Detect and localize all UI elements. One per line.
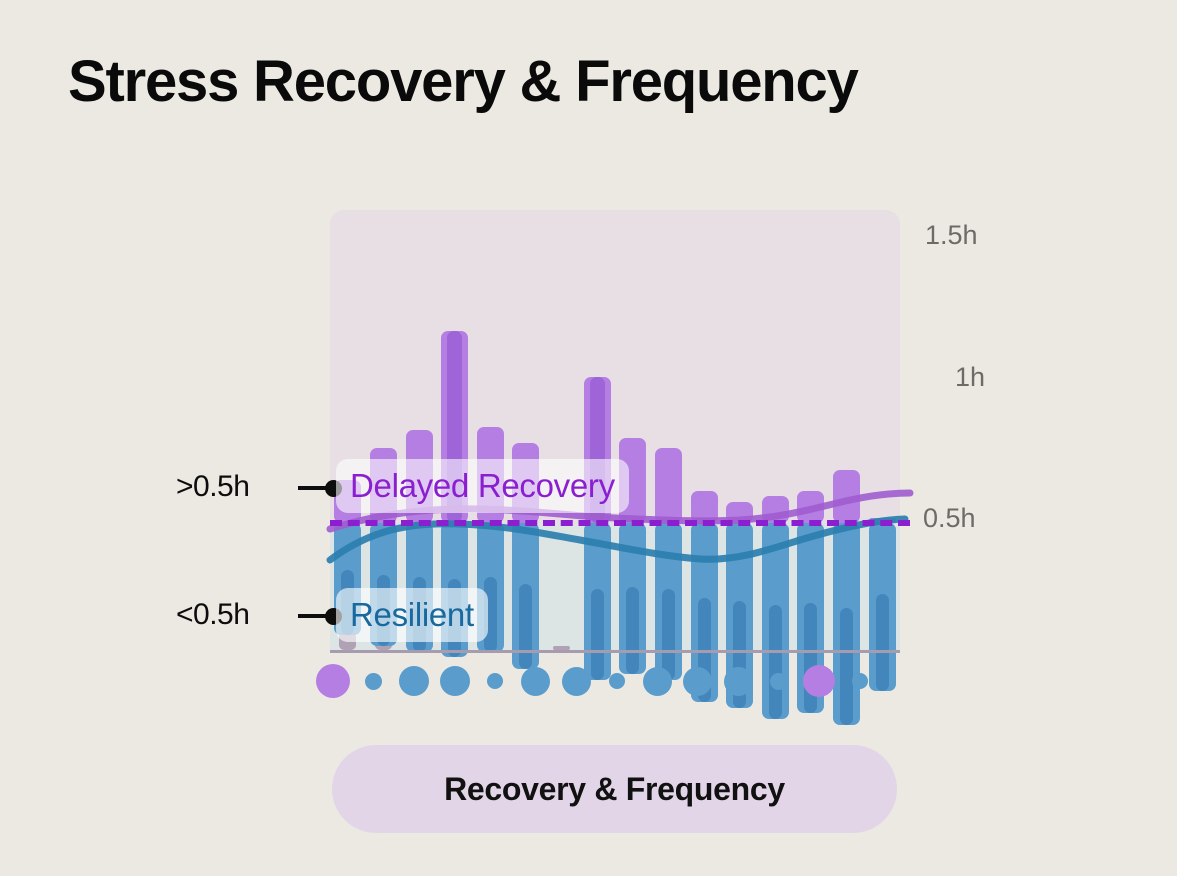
axis-tick-0-5h: 0.5h <box>923 503 976 534</box>
legend-pill[interactable]: Recovery & Frequency <box>332 745 897 833</box>
frequency-dot[interactable] <box>487 673 503 689</box>
frequency-dot[interactable] <box>365 673 382 690</box>
bar-resilient-inner <box>626 587 639 675</box>
bar-delayed-recovery[interactable] <box>833 470 860 523</box>
frequency-dot[interactable] <box>724 667 753 696</box>
chart-baseline <box>330 650 900 653</box>
frequency-dot[interactable] <box>609 673 625 689</box>
bar-delayed-recovery[interactable] <box>691 491 718 523</box>
bar-resilient-inner <box>876 594 889 691</box>
frequency-dot[interactable] <box>643 667 672 696</box>
callout-delayed-recovery: Delayed Recovery <box>336 459 629 513</box>
threshold-line <box>330 520 910 526</box>
callout-delayed-label: Delayed Recovery <box>350 467 615 505</box>
bar-delayed-recovery[interactable] <box>797 491 824 523</box>
callout-resilient-label: Resilient <box>350 596 474 634</box>
frequency-dot[interactable] <box>440 666 470 696</box>
bar-resilient-inner <box>840 608 853 725</box>
bar-resilient-inner <box>591 589 604 680</box>
frequency-dot[interactable] <box>683 667 712 696</box>
frequency-dot[interactable] <box>399 666 429 696</box>
axis-tick-1-5h: 1.5h <box>925 220 978 251</box>
bar-delayed-recovery[interactable] <box>762 496 789 523</box>
bar-resilient-inner <box>662 589 675 680</box>
axis-label-below-threshold: <0.5h <box>176 598 249 632</box>
bar-resilient-inner <box>519 584 532 668</box>
legend-pill-label: Recovery & Frequency <box>444 771 785 808</box>
axis-label-above-threshold: >0.5h <box>176 470 249 504</box>
bar-resilient-inner <box>804 603 817 713</box>
bar-delayed-recovery[interactable] <box>655 448 682 523</box>
frequency-dot[interactable] <box>521 667 550 696</box>
frequency-dot[interactable] <box>852 673 868 689</box>
bar-resilient-inner <box>769 605 782 719</box>
axis-tick-1h: 1h <box>955 362 985 393</box>
frequency-dot[interactable] <box>562 667 591 696</box>
frequency-dot[interactable] <box>803 665 835 697</box>
frequency-dot[interactable] <box>770 673 787 690</box>
frequency-dot[interactable] <box>316 664 350 698</box>
callout-resilient: Resilient <box>336 588 488 642</box>
